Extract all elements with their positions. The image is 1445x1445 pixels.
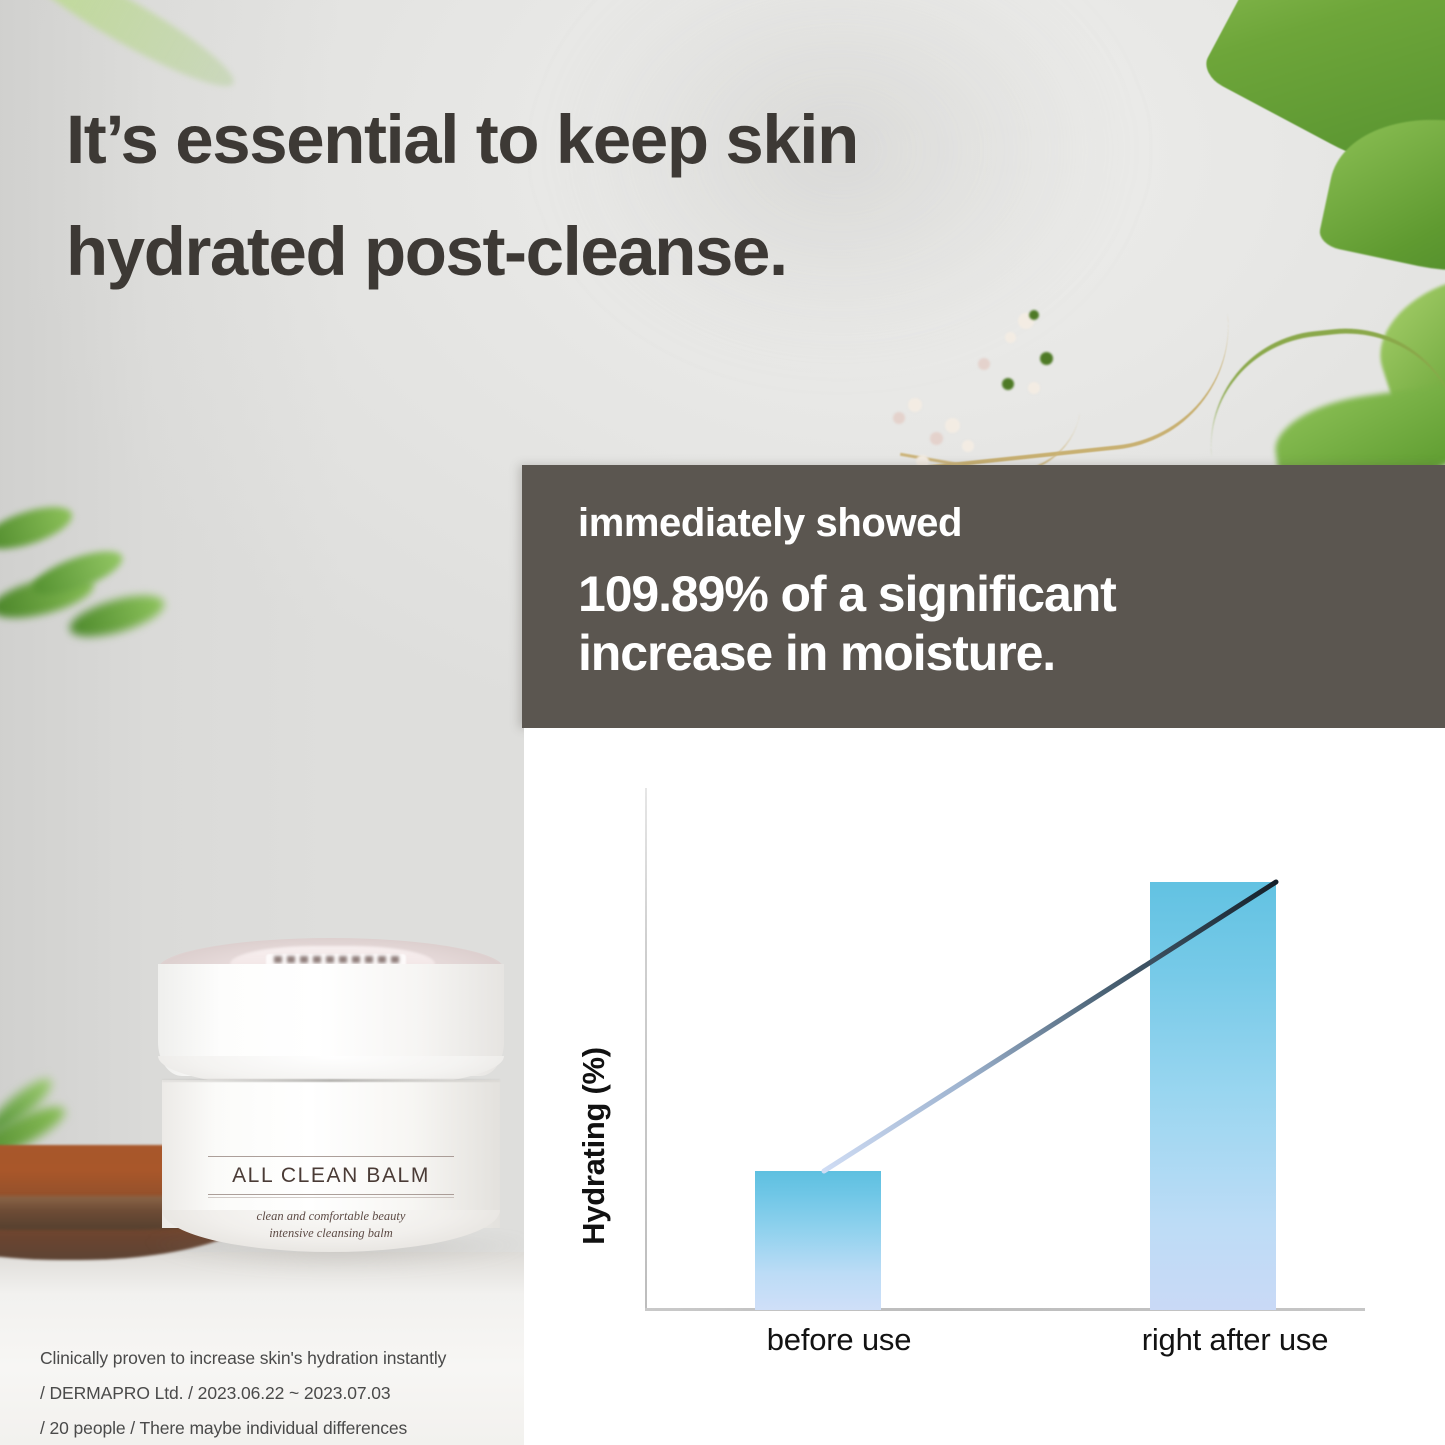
- label-rule-top: [208, 1156, 454, 1157]
- jar-seam: [162, 1079, 500, 1082]
- study-footnote: Clinically proven to increase skin's hyd…: [40, 1341, 540, 1445]
- label-rule-bottom-thin: [208, 1197, 454, 1198]
- page-title: It’s essential to keep skin hydrated pos…: [66, 84, 1196, 308]
- product-brand-name: ALL CLEAN BALM: [208, 1157, 454, 1194]
- product-jar: ALL CLEAN BALM clean and comfortable bea…: [148, 938, 514, 1290]
- x-tick-right-after-use: right after use: [1085, 1322, 1385, 1358]
- flower-bud-icon: [945, 418, 960, 433]
- product-tagline: clean and comfortable beauty intensive c…: [208, 1208, 454, 1242]
- flower-bud-icon: [908, 398, 922, 412]
- bar-right-after-use: [1150, 882, 1276, 1310]
- callout-small-line: immediately showed: [578, 503, 1445, 543]
- headline-line-2: hydrated post-cleanse.: [66, 196, 1196, 308]
- bar-fill: [1150, 882, 1276, 1310]
- bud-node-icon: [1029, 310, 1039, 320]
- bud-node-icon: [1040, 352, 1053, 365]
- hydration-bar-chart: Hydrating (%) before: [524, 728, 1445, 1445]
- flower-bud-icon: [978, 358, 990, 370]
- chart-panel: Hydrating (%) before: [524, 728, 1445, 1445]
- y-axis-line: [645, 788, 647, 1310]
- flower-bud-icon: [1005, 332, 1016, 343]
- product-label: ALL CLEAN BALM clean and comfortable bea…: [208, 1156, 454, 1240]
- flower-bud-icon: [962, 440, 974, 452]
- y-axis-label: Hydrating (%): [576, 1006, 612, 1286]
- promo-image-root: ALL CLEAN BALM clean and comfortable bea…: [0, 0, 1445, 1445]
- bar-before-use: [755, 1171, 881, 1310]
- product-tagline-line2: intensive cleansing balm: [208, 1225, 454, 1242]
- claim-callout-box: immediately showed 109.89% of a signific…: [522, 465, 1445, 728]
- jar-lid-sticker-text: [274, 956, 400, 963]
- label-rule-bottom: [208, 1194, 454, 1195]
- footnote-line-1: Clinically proven to increase skin's hyd…: [40, 1341, 540, 1376]
- callout-big-line-2: increase in moisture.: [578, 624, 1445, 683]
- bud-node-icon: [1002, 378, 1014, 390]
- headline-line-1: It’s essential to keep skin: [66, 84, 1196, 196]
- footnote-line-3: / 20 people / There maybe individual dif…: [40, 1411, 540, 1445]
- bar-fill: [755, 1171, 881, 1310]
- x-tick-before-use: before use: [699, 1322, 979, 1358]
- flower-bud-icon: [893, 412, 905, 424]
- flower-bud-icon: [1028, 382, 1040, 394]
- footnote-line-2: / DERMAPRO Ltd. / 2023.06.22 ~ 2023.07.0…: [40, 1376, 540, 1411]
- flower-bud-icon: [930, 432, 943, 445]
- callout-big-line-1: 109.89% of a significant: [578, 565, 1445, 624]
- x-axis-tick-labels: before use right after use: [645, 1322, 1365, 1382]
- product-tagline-line1: clean and comfortable beauty: [208, 1208, 454, 1225]
